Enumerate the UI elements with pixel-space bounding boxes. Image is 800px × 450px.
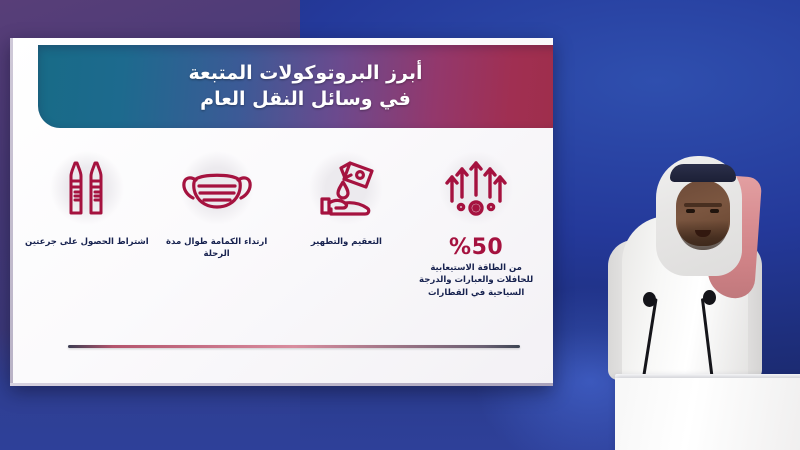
hand-sanitizer-icon bbox=[300, 145, 392, 231]
protocol-item-sanitizing: التعقيم والتطهير bbox=[282, 141, 412, 356]
microphone-head-right bbox=[703, 290, 716, 305]
presentation-slide: أبرز البروتوكولات المتبعة في وسائل النقل… bbox=[10, 38, 553, 386]
sanitizing-caption: التعقيم والتطهير bbox=[287, 236, 405, 248]
capacity-caption: من الطاقة الاستيعابية للحافلات والعبارات… bbox=[417, 262, 535, 299]
slide-title-line-1: أبرز البروتوكولات المتبعة bbox=[188, 62, 422, 85]
speaker-eye-right bbox=[710, 209, 719, 213]
capacity-percent-value: %50 bbox=[449, 235, 503, 260]
speaker-eye-left bbox=[686, 209, 695, 213]
protocol-items-row: %50 من الطاقة الاستيعابية للحافلات والعب… bbox=[10, 141, 553, 356]
slide-bottom-edge bbox=[10, 383, 553, 386]
speaker-egal bbox=[670, 164, 736, 182]
protocol-item-capacity: %50 من الطاقة الاستيعابية للحافلات والعب… bbox=[411, 141, 541, 356]
protocol-item-vaccine: اشتراط الحصول على جرعتين bbox=[22, 141, 152, 356]
slide-title-banner: أبرز البروتوكولات المتبعة في وسائل النقل… bbox=[38, 45, 553, 128]
speaker-area bbox=[560, 120, 800, 450]
slide-bottom-rule bbox=[68, 345, 520, 348]
mask-caption: ارتداء الكمامة طوال مدة الرحلة bbox=[158, 236, 276, 261]
capacity-arrows-icon bbox=[430, 145, 522, 231]
slide-title-line-2: في وسائل النقل العام bbox=[200, 88, 411, 111]
vaccine-vials-icon bbox=[41, 145, 133, 231]
screenshot-stage: أبرز البروتوكولات المتبعة في وسائل النقل… bbox=[0, 0, 800, 450]
podium bbox=[615, 378, 800, 450]
vaccine-caption: اشتراط الحصول على جرعتين bbox=[24, 236, 150, 248]
speaker-brow bbox=[684, 203, 722, 207]
face-mask-icon bbox=[171, 145, 263, 231]
protocol-item-mask: ارتداء الكمامة طوال مدة الرحلة bbox=[152, 141, 282, 356]
